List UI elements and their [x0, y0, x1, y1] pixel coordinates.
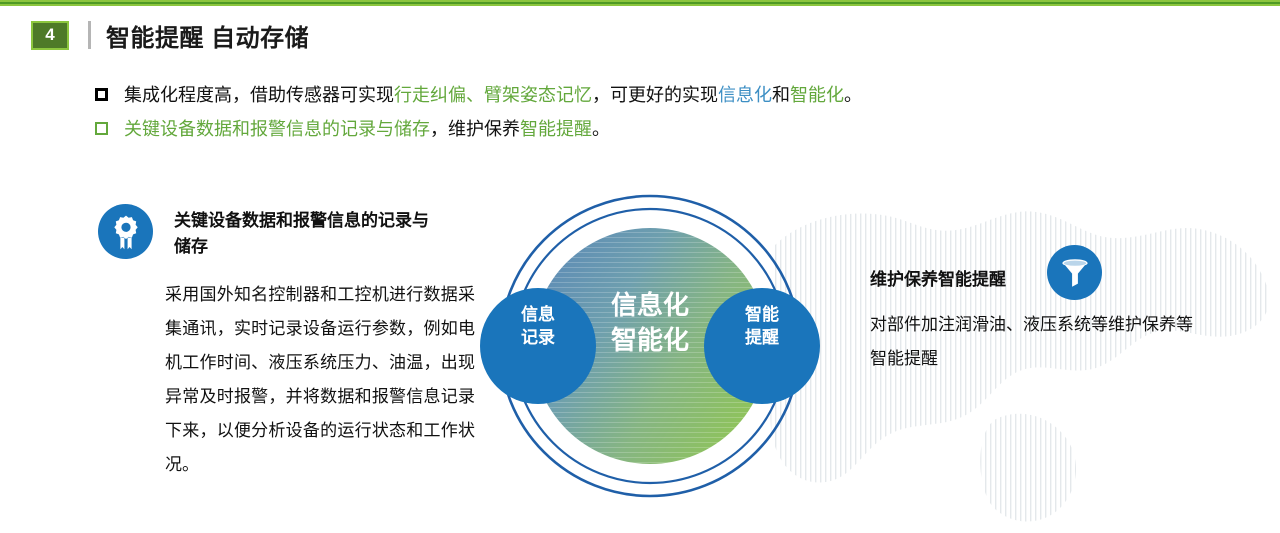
left-panel-header: 关键设备数据和报警信息的记录与储存 — [98, 204, 468, 260]
bullet-2-seg-1: ，维护保养 — [430, 119, 520, 139]
bullet-1-seg-0: 集成化程度高，借助传感器可实现 — [124, 85, 394, 105]
left-panel-body: 采用国外知名控制器和工控机进行数据采集通讯，实时记录设备运行参数，例如电机工作时… — [165, 278, 475, 482]
bullet-square-filled-icon — [95, 88, 108, 101]
bullet-1-seg-5: 智能化 — [790, 85, 844, 105]
right-panel-body: 对部件加注润滑油、液压系统等维护保养等智能提醒 — [870, 308, 1195, 376]
bullet-2-seg-3: 。 — [592, 119, 610, 139]
bullet-2-seg-2: 智能提醒 — [520, 119, 592, 139]
award-ribbon-icon — [98, 204, 153, 259]
bullet-1-seg-4: 和 — [772, 85, 790, 105]
bullet-item-1-text: 集成化程度高，借助传感器可实现行走纠偏、臂架姿态记忆，可更好的实现信息化和智能化… — [124, 82, 862, 108]
left-info-panel: 关键设备数据和报警信息的记录与储存 采用国外知名控制器和工控机进行数据采集通讯，… — [98, 204, 468, 482]
right-lobe-line-1: 智能 — [745, 305, 779, 324]
core-label-line-2: 智能化 — [611, 325, 689, 355]
bullet-2-seg-0: 关键设备数据和报警信息的记录与储存 — [124, 119, 430, 139]
venn-diagram: 信息化 智能化 信息 记录 智能 提醒 — [455, 188, 845, 504]
bullet-square-outline-icon — [95, 122, 108, 135]
top-accent-band-dark — [0, 2, 1280, 4]
right-lobe-line-2: 提醒 — [745, 328, 779, 347]
left-lobe-line-1: 信息 — [521, 305, 555, 324]
bullet-1-seg-6: 。 — [844, 85, 862, 105]
left-panel-heading: 关键设备数据和报警信息的记录与储存 — [174, 208, 444, 260]
bullet-item-1: 集成化程度高，借助传感器可实现行走纠偏、臂架姿态记忆，可更好的实现信息化和智能化… — [95, 82, 1145, 108]
bullet-list: 集成化程度高，借助传感器可实现行走纠偏、臂架姿态记忆，可更好的实现信息化和智能化… — [95, 82, 1145, 150]
bullet-1-seg-1: 行走纠偏、臂架姿态记忆 — [394, 85, 592, 105]
core-label: 信息化 智能化 — [575, 288, 725, 358]
core-label-line-1: 信息化 — [611, 290, 689, 320]
bullet-item-2: 关键设备数据和报警信息的记录与储存，维护保养智能提醒。 — [95, 116, 1145, 142]
left-lobe-label: 信息 记录 — [493, 303, 583, 349]
slide-header: 4 智能提醒 自动存储 — [31, 19, 309, 51]
title-divider — [88, 21, 91, 49]
bullet-item-2-text: 关键设备数据和报警信息的记录与储存，维护保养智能提醒。 — [124, 116, 610, 142]
right-info-panel: 维护保养智能提醒 对部件加注润滑油、液压系统等维护保养等智能提醒 — [870, 268, 1205, 376]
bullet-1-seg-2: ，可更好的实现 — [592, 85, 718, 105]
section-number-badge: 4 — [31, 21, 69, 50]
page-title: 智能提醒 自动存储 — [106, 18, 309, 53]
bullet-1-seg-3: 信息化 — [718, 85, 772, 105]
right-lobe-label: 智能 提醒 — [717, 303, 807, 349]
right-panel-heading: 维护保养智能提醒 — [870, 268, 1205, 292]
top-accent-bar — [0, 0, 1280, 6]
left-lobe-line-2: 记录 — [521, 328, 555, 347]
